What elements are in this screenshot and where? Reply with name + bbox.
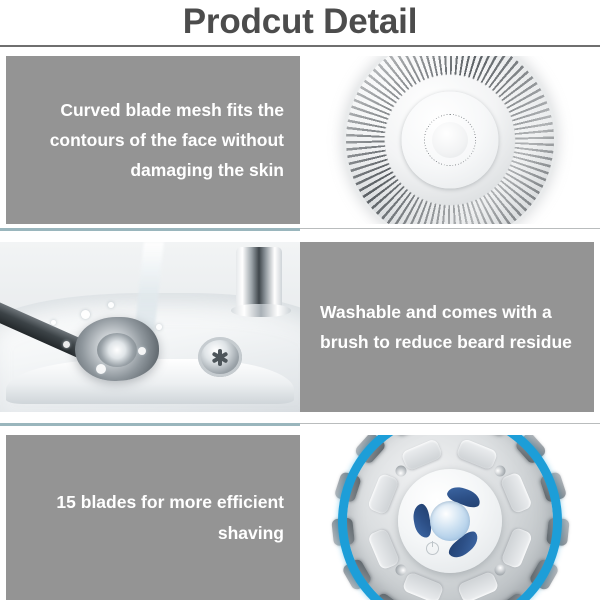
cutter-hub-center xyxy=(430,501,470,541)
drain-bar xyxy=(218,349,222,366)
rotary-cutter-assembly-photo xyxy=(300,435,600,600)
row-divider-2 xyxy=(0,423,600,426)
cutter-hub xyxy=(398,469,502,573)
row-divider-1-right xyxy=(300,228,600,229)
washing-in-sink-photo xyxy=(0,242,300,412)
foil-head-graphic xyxy=(346,56,554,224)
product-detail-page: Prodcut Detail Curved blade mesh fits th… xyxy=(0,0,600,600)
water-splash xyxy=(108,302,114,308)
caption-panel-3: 15 blades for more efficient shaving xyxy=(6,435,300,600)
water-splash xyxy=(63,341,70,348)
title-divider xyxy=(0,45,600,47)
power-icon xyxy=(426,542,439,555)
caption-panel-1: Curved blade mesh fits the contours of t… xyxy=(6,56,300,224)
page-title: Prodcut Detail xyxy=(0,0,600,44)
feature-row-1: Curved blade mesh fits the contours of t… xyxy=(0,56,600,224)
sink-scene-graphic xyxy=(0,242,300,412)
shaver-foil-head-photo xyxy=(300,56,600,224)
shaver-head-under-water xyxy=(75,317,159,381)
cutter-assembly-graphic xyxy=(338,435,562,600)
water-splash xyxy=(81,310,90,319)
water-splash xyxy=(156,324,162,330)
foil-inner-cap xyxy=(432,122,468,158)
faucet-base xyxy=(231,304,291,317)
row-divider-2-left xyxy=(0,423,300,426)
feature-row-2: Washable and comes with a brush to reduc… xyxy=(0,242,600,412)
row-divider-2-right xyxy=(300,423,600,424)
caption-text-1: Curved blade mesh fits the contours of t… xyxy=(6,95,300,185)
row-divider-1-left xyxy=(0,228,300,231)
row-divider-1 xyxy=(0,228,600,231)
caption-panel-2: Washable and comes with a brush to reduc… xyxy=(300,242,594,412)
caption-text-3: 15 blades for more efficient shaving xyxy=(6,487,300,547)
sink-drain-icon xyxy=(198,337,242,377)
caption-text-2: Washable and comes with a brush to reduc… xyxy=(300,297,594,357)
feature-row-3: 15 blades for more efficient shaving xyxy=(0,435,600,600)
